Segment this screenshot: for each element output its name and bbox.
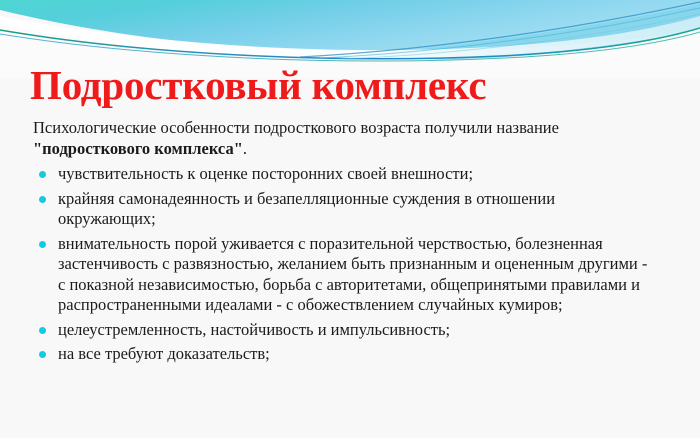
list-item-label: чувствительность к оценке посторонних св… (58, 164, 648, 185)
list-item: чувствительность к оценке посторонних св… (0, 162, 700, 187)
list-item-label: на все требуют доказательств; (58, 344, 648, 365)
intro-tail: . (243, 139, 247, 158)
bullet-list: чувствительность к оценке посторонних св… (0, 162, 700, 367)
list-item-label: внимательность порой уживается с поразит… (58, 234, 648, 316)
slide-content: Психологические особенности подростковог… (0, 118, 700, 367)
page-title: Подростковый комплекс (30, 62, 670, 108)
list-item-label: целеустремленность, настойчивость и импу… (58, 320, 648, 341)
intro-lead: Психологические особенности подростковог… (33, 118, 559, 137)
intro-paragraph: Психологические особенности подростковог… (0, 118, 700, 159)
bullet-dot-icon (39, 241, 46, 248)
slide: Подростковый комплекс Психологические ос… (0, 0, 700, 438)
list-item: целеустремленность, настойчивость и импу… (0, 318, 700, 343)
bullet-dot-icon (39, 327, 46, 334)
list-item: на все требуют доказательств; (0, 342, 700, 367)
bullet-dot-icon (39, 351, 46, 358)
list-item: крайняя самонадеянность и безапелляционн… (0, 187, 700, 232)
list-item: внимательность порой уживается с поразит… (0, 232, 700, 318)
list-item-label: крайняя самонадеянность и безапелляционн… (58, 189, 648, 230)
bullet-dot-icon (39, 171, 46, 178)
bullet-dot-icon (39, 196, 46, 203)
intro-emphasis: "подросткового комплекса" (33, 139, 243, 158)
